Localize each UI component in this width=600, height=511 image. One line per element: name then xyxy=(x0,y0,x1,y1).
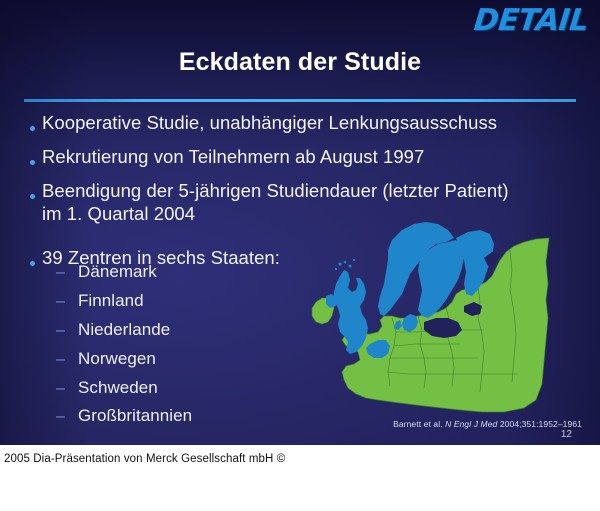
bullet-item: Rekrutierung von Teilnehmern ab August 1… xyxy=(22,145,582,170)
bullet-text: Beendigung der 5-jährigen Studiendauer (… xyxy=(42,179,509,226)
bullet-dot-icon xyxy=(22,179,42,204)
bullet-item: Kooperative Studie, unabhängiger Lenkung… xyxy=(22,111,582,136)
sub-bullet-item: – Schweden xyxy=(56,378,192,398)
slide-title-text: Eckdaten der Studie xyxy=(179,48,421,76)
bullet-dot-icon xyxy=(22,111,42,136)
sub-bullet-item: – Finnland xyxy=(56,291,192,311)
bullet-dot-icon xyxy=(22,145,42,170)
slide-page-number: 12 xyxy=(561,429,572,440)
sub-bullet-item: – Niederlande xyxy=(56,320,192,340)
page-footer: 2005 Dia-Präsentation von Merck Gesellsc… xyxy=(0,445,600,511)
map-country-great-britain xyxy=(334,270,368,354)
citation-journal: N Engl J Med xyxy=(445,419,497,429)
dash-icon: – xyxy=(56,381,78,397)
sub-bullet-item: – Großbritannien xyxy=(56,406,192,426)
dash-icon: – xyxy=(56,323,78,339)
sub-bullet-text: Norwegen xyxy=(78,349,156,369)
sub-bullet-list: – Dänemark – Finnland – Niederlande – No… xyxy=(56,262,192,435)
citation-authors: Barnett et al. xyxy=(393,419,445,429)
detail-logo: DETAIL xyxy=(474,6,588,36)
sub-bullet-text: Finnland xyxy=(78,291,144,311)
sub-bullet-item: – Norwegen xyxy=(56,349,192,369)
dash-icon: – xyxy=(56,352,78,368)
title-divider xyxy=(24,99,576,102)
bullet-item: Beendigung der 5-jährigen Studiendauer (… xyxy=(22,179,582,226)
citation: Barnett et al. N Engl J Med 2004;351:195… xyxy=(393,419,582,429)
dash-icon: – xyxy=(56,409,78,425)
bullet-text: Rekrutierung von Teilnehmern ab August 1… xyxy=(42,145,424,168)
presentation-slide: DETAIL Eckdaten der Studie xyxy=(0,0,600,445)
citation-reference: 2004;351:1952–1961 xyxy=(497,419,582,429)
detail-logo-text: DETAIL xyxy=(472,6,589,36)
sub-bullet-text: Schweden xyxy=(78,378,158,398)
bullet-dot-icon xyxy=(22,246,42,271)
sub-bullet-text: Großbritannien xyxy=(78,406,192,426)
bullet-list: Kooperative Studie, unabhängiger Lenkung… xyxy=(22,111,582,280)
dash-icon: – xyxy=(56,294,78,310)
slide-title: Eckdaten der Studie xyxy=(0,48,600,77)
sub-bullet-text: Dänemark xyxy=(78,262,157,282)
sub-bullet-item: – Dänemark xyxy=(56,262,192,282)
bullet-text: Kooperative Studie, unabhängiger Lenkung… xyxy=(42,111,497,134)
footer-text: 2005 Dia-Präsentation von Merck Gesellsc… xyxy=(4,453,285,465)
sub-bullet-text: Niederlande xyxy=(78,320,170,340)
dash-icon: – xyxy=(56,265,78,281)
